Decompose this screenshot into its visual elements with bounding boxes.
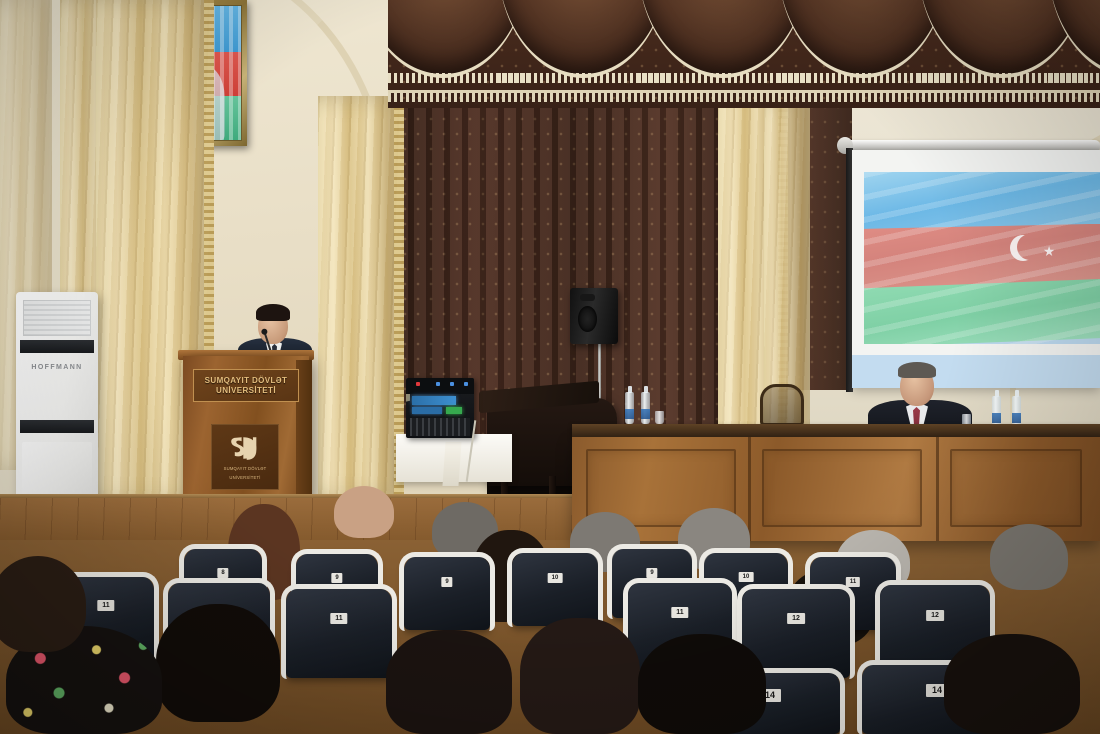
seat-number-plate: 8 [217, 568, 228, 578]
photograph-conference-hall: HOFFMANN [0, 0, 1100, 734]
water-bottle [625, 392, 634, 424]
curtain-gold-center [318, 96, 404, 500]
auditorium-seat[interactable]: 10 [512, 552, 598, 626]
podium-logo-plaque: SUMQAYIT DÖVLƏT UNİVERSİTETİ [211, 424, 279, 490]
audience-man-grey-hair-r2 [990, 524, 1068, 590]
table-divider [748, 437, 751, 541]
audience-man-dark-hair-front [156, 604, 280, 722]
valance-swag [778, 0, 948, 78]
mixer-display-secondary [412, 407, 442, 414]
projection-screen [852, 150, 1100, 388]
audience-woman-ponytail-far [944, 634, 1080, 734]
auditorium-seat[interactable]: 9 [404, 556, 490, 630]
seat-number-plate: 11 [846, 577, 860, 587]
ac-lower-band [20, 420, 94, 433]
speaker-hair [256, 304, 290, 321]
water-bottle [641, 392, 650, 424]
seat-rim [399, 552, 495, 631]
podium-nameplate-line1: SUMQAYIT DÖVLƏT [205, 376, 288, 385]
audience-man-bald [334, 486, 394, 538]
mixer-led-blue-icon [464, 382, 468, 386]
mixer-knob-row [410, 418, 470, 436]
audio-mixer [406, 378, 474, 438]
audience-woman-long-dark [386, 630, 512, 734]
mixer-led-blue-icon [450, 382, 454, 386]
podium-nameplate: SUMQAYIT DÖVLƏT UNİVERSİTETİ [193, 369, 299, 402]
audience-woman-long-dark-2 [520, 618, 640, 734]
valance-swag [638, 0, 808, 78]
ac-brand-label: HOFFMANN [16, 364, 98, 371]
curtain-valance [388, 0, 1100, 108]
table-panel [762, 449, 922, 527]
sdu-logo-icon [228, 433, 262, 463]
pa-speaker [570, 288, 618, 344]
presidium-chair [760, 384, 804, 426]
presidium-hair [898, 362, 936, 378]
auditorium-seat[interactable]: 11 [286, 588, 392, 678]
seat-number-plate: 11 [97, 600, 114, 611]
projected-flag-image [864, 172, 1100, 344]
table-panel [950, 449, 1082, 527]
sdu-logo-sub1: SUMQAYIT DÖVLƏT [224, 466, 267, 472]
table-divider [936, 437, 939, 541]
seat-number-plate: 12 [926, 610, 944, 621]
mixer-top-strip [406, 378, 474, 394]
mixer-display [412, 396, 456, 405]
seat-number-plate: 11 [330, 613, 347, 624]
ac-display-band [20, 340, 94, 353]
drinking-glass [655, 411, 664, 424]
seat-number-plate: 9 [441, 577, 452, 587]
mixer-led-blue-icon [436, 382, 440, 386]
air-conditioner: HOFFMANN [16, 292, 98, 512]
seat-number-plate: 10 [548, 573, 563, 583]
equipment-table [396, 434, 512, 482]
ac-vent-grille [23, 300, 91, 336]
seat-number-plate: 10 [739, 572, 754, 582]
audience-head-left-edge [0, 556, 86, 652]
seat-number-plate: 9 [646, 568, 657, 578]
valance-fringe [388, 93, 1100, 102]
seat-rim [281, 584, 397, 679]
seat-number-plate: 11 [671, 607, 688, 618]
mixer-level-indicator [446, 407, 462, 414]
sdu-logo-sub2: UNİVERSİTETİ [229, 475, 260, 481]
flag-wave-texture [864, 172, 1100, 344]
audience-man-dark-front-r [638, 634, 766, 734]
seat-rim [507, 548, 603, 627]
seat-number-plate: 12 [787, 613, 805, 624]
podium-nameplate-line2: UNİVERSİTETİ [216, 386, 276, 395]
valance-swag [498, 0, 668, 78]
mixer-led-red-icon [416, 382, 420, 386]
seat-number-plate: 9 [331, 573, 342, 583]
